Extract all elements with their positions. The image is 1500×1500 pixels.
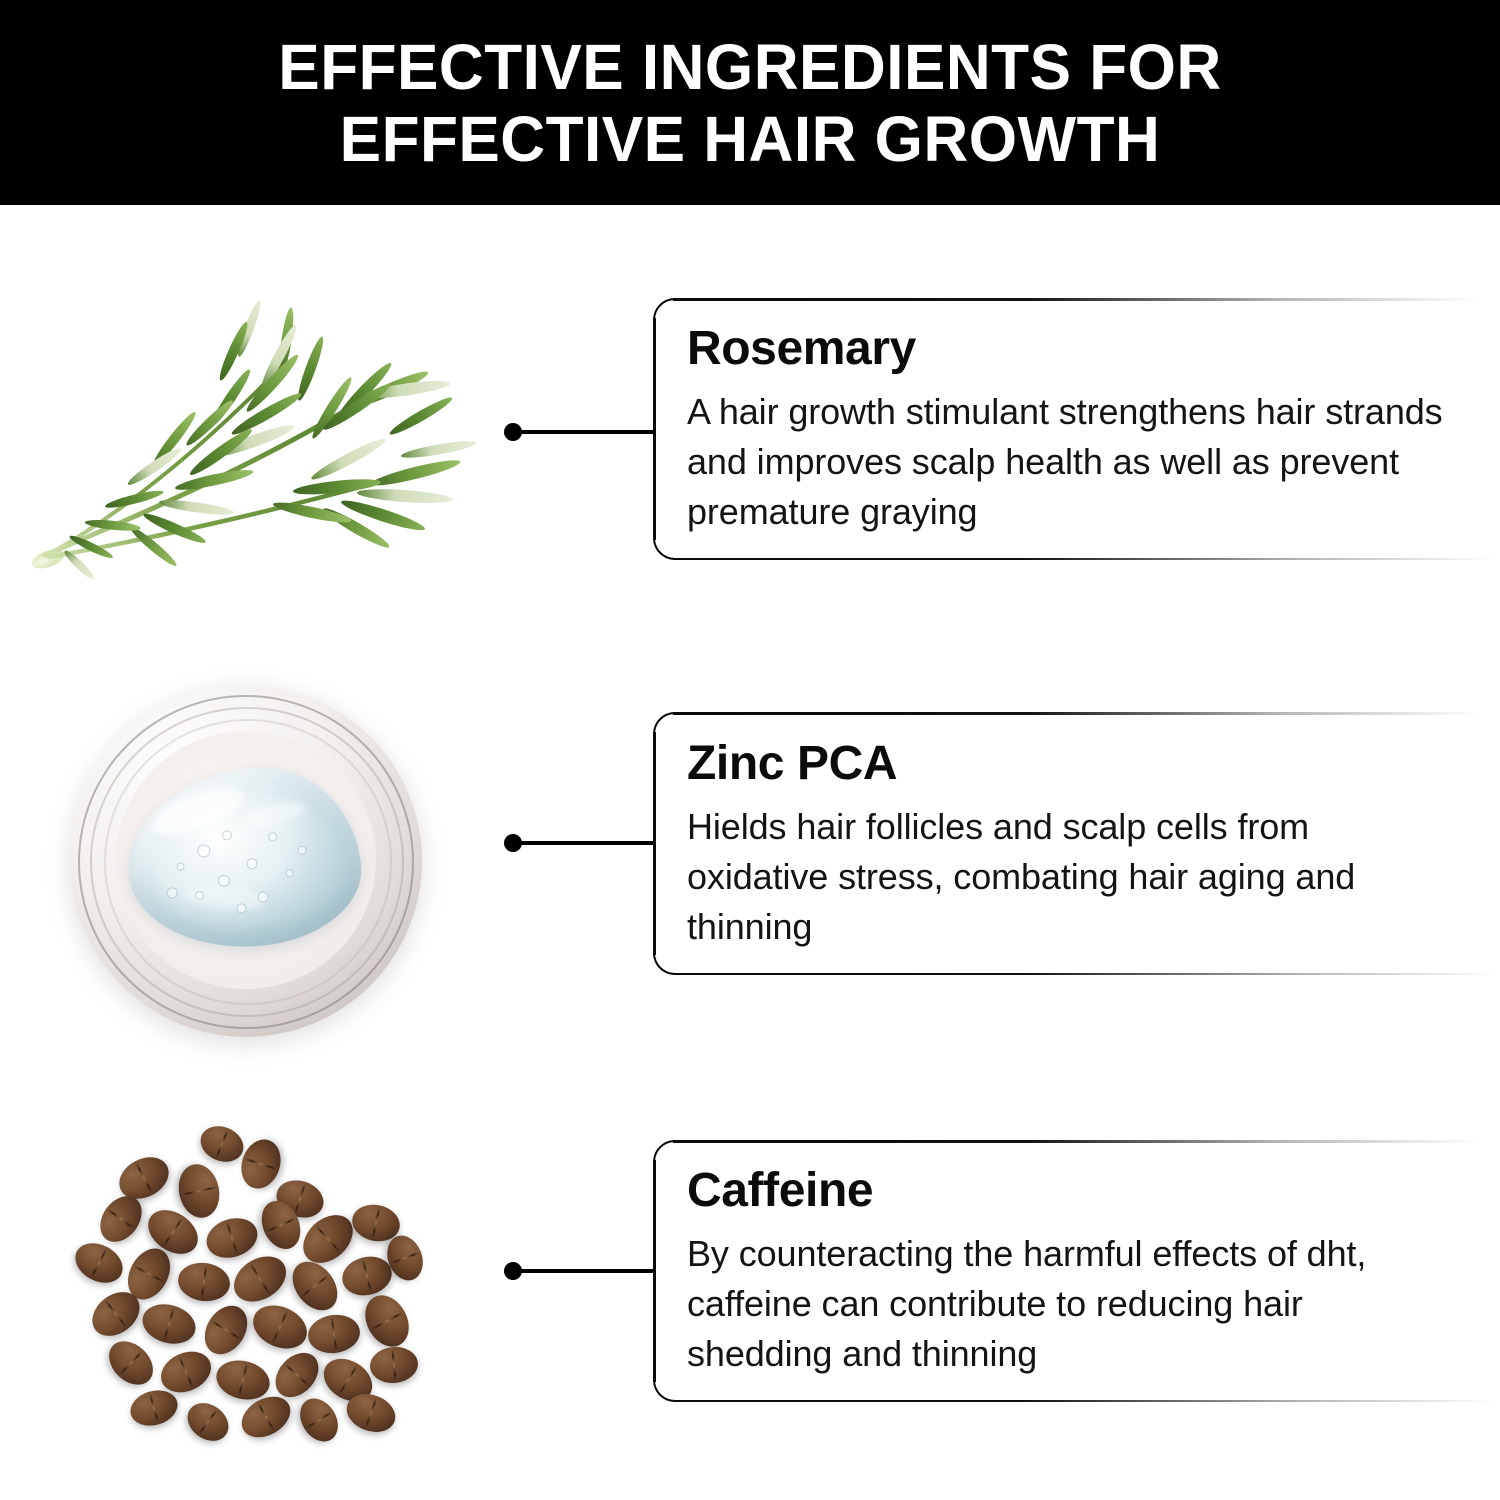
coffee-bean: [195, 1119, 249, 1167]
gel-bubble: [197, 844, 211, 858]
ingredient-card-caffeine[interactable]: Caffeine By counteracting the harmful ef…: [653, 1140, 1500, 1402]
card-border-left: [653, 1160, 656, 1382]
ingredient-card-zinc-pca[interactable]: Zinc PCA Hields hair follicles and scalp…: [653, 712, 1500, 975]
ingredient-row-rosemary: Rosemary A hair growth stimulant strengt…: [0, 205, 1500, 635]
card-corner-bottom-left: [653, 536, 677, 560]
gel-bubble: [217, 874, 230, 887]
ingredient-title: Caffeine: [687, 1163, 1473, 1219]
ingredient-description: By counteracting the harmful effects of …: [687, 1229, 1447, 1379]
coffee-bean: [138, 1298, 200, 1349]
coffee-bean: [101, 1332, 162, 1393]
zinc-pca-gel-dish-photo: [70, 685, 430, 1045]
card-content: Zinc PCA Hields hair follicles and scalp…: [687, 712, 1473, 975]
zinc-pca-image-well: [0, 635, 500, 1095]
ingredient-row-caffeine: Caffeine By counteracting the harmful ef…: [0, 1095, 1500, 1500]
coffee-bean: [357, 1287, 418, 1353]
coffee-bean: [201, 1211, 262, 1263]
card-border-left: [653, 732, 656, 955]
rosemary-image-well: [0, 205, 500, 635]
coffee-bean: [180, 1395, 236, 1448]
coffee-bean: [292, 1391, 345, 1448]
card-content: Rosemary A hair growth stimulant strengt…: [687, 298, 1473, 560]
gel-bubble: [257, 891, 269, 903]
gel-bubble: [297, 846, 307, 856]
card-corner-bottom-left: [653, 1378, 677, 1402]
coffee-bean: [196, 1297, 256, 1361]
gel-bubble: [166, 887, 178, 899]
coffee-bean: [283, 1253, 346, 1319]
ingredient-title: Rosemary: [687, 321, 1473, 377]
infographic-page: EFFECTIVE INGREDIENTS FOR EFFECTIVE HAIR…: [0, 0, 1500, 1500]
coffee-bean: [306, 1311, 363, 1356]
coffee-bean: [68, 1235, 129, 1290]
card-corner-top-left: [653, 712, 677, 736]
ingredient-description: Hields hair follicles and scalp cells fr…: [687, 802, 1447, 952]
header-banner: EFFECTIVE INGREDIENTS FOR EFFECTIVE HAIR…: [0, 0, 1500, 205]
card-corner-top-left: [653, 1140, 677, 1164]
connector-dot: [504, 834, 522, 852]
coffee-bean: [174, 1160, 224, 1221]
coffee-beans-photo: [60, 1123, 440, 1473]
rosemary-illustration: [15, 255, 485, 585]
card-corner-top-left: [653, 298, 677, 322]
gel-highlight: [243, 797, 308, 830]
connector-dot: [504, 1262, 522, 1280]
ingredient-card-rosemary[interactable]: Rosemary A hair growth stimulant strengt…: [653, 298, 1500, 560]
coffee-bean: [176, 1259, 233, 1304]
gel-bubble: [246, 858, 258, 870]
coffee-bean: [368, 1344, 420, 1385]
rosemary-sprigs-photo: [15, 255, 485, 585]
connector-dot: [504, 423, 522, 441]
page-title: EFFECTIVE INGREDIENTS FOR EFFECTIVE HAIR…: [120, 31, 1381, 175]
ingredient-description: A hair growth stimulant strengthens hair…: [687, 387, 1447, 537]
card-content: Caffeine By counteracting the harmful ef…: [687, 1140, 1473, 1402]
ingredient-row-zinc-pca: Zinc PCA Hields hair follicles and scalp…: [0, 635, 1500, 1095]
gel-bubble: [176, 862, 185, 871]
card-corner-bottom-left: [653, 951, 677, 975]
ingredient-title: Zinc PCA: [687, 736, 1473, 792]
card-border-left: [653, 318, 656, 540]
coffee-bean: [246, 1297, 313, 1356]
caffeine-image-well: [0, 1095, 500, 1500]
gel-bubble: [222, 830, 233, 841]
gel-bubble: [236, 903, 247, 914]
gel-bubble: [285, 869, 294, 878]
gel-bubble: [268, 832, 278, 842]
